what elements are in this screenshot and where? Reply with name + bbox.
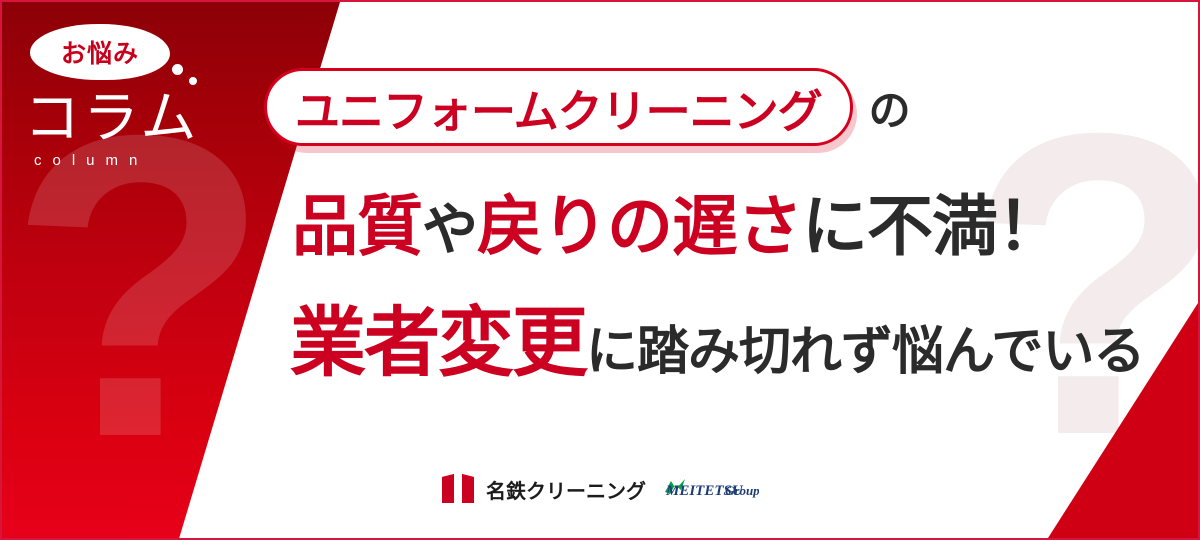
- headline-line2-seg-2: 戻りの遅さ: [477, 189, 802, 263]
- headline-line3-seg-0: 業者変更: [290, 301, 586, 386]
- headline-line-2: 品質や戻りの遅さに不満！: [292, 192, 1062, 261]
- meitetsu-group-logo-icon: MEITETSU Group: [663, 478, 759, 500]
- headline-line2-seg-3: に不満！: [802, 189, 1062, 263]
- column-banner: ? お悩み コラム column ? ユニフォームクリーニング の 品質や戻りの…: [0, 0, 1200, 540]
- logo-lockup: 名鉄クリーニング MEITETSU Group: [2, 474, 1198, 504]
- meitetsu-m-mark-icon: [441, 474, 475, 504]
- headline-particle-no: の: [869, 77, 911, 138]
- headline-line-1: ユニフォームクリーニング の: [264, 68, 911, 146]
- headline-line3-seg-1: に踏み切れず悩んでいる: [586, 323, 1144, 381]
- company-name-label: 名鉄クリーニング: [486, 475, 646, 504]
- keyword-pill: ユニフォームクリーニング: [264, 68, 853, 146]
- svg-text:Group: Group: [725, 483, 759, 498]
- keyword-pill-label: ユニフォームクリーニング: [295, 75, 822, 140]
- headline-line-3: 業者変更に踏み切れず悩んでいる: [290, 304, 1144, 384]
- meitetsu-group-logo: MEITETSU Group: [663, 478, 759, 500]
- headline-line2-seg-1: や: [422, 198, 477, 261]
- headline-line2-seg-0: 品質: [292, 189, 422, 263]
- headline-copy: ユニフォームクリーニング の 品質や戻りの遅さに不満！ 業者変更に踏み切れず悩ん…: [2, 2, 1200, 540]
